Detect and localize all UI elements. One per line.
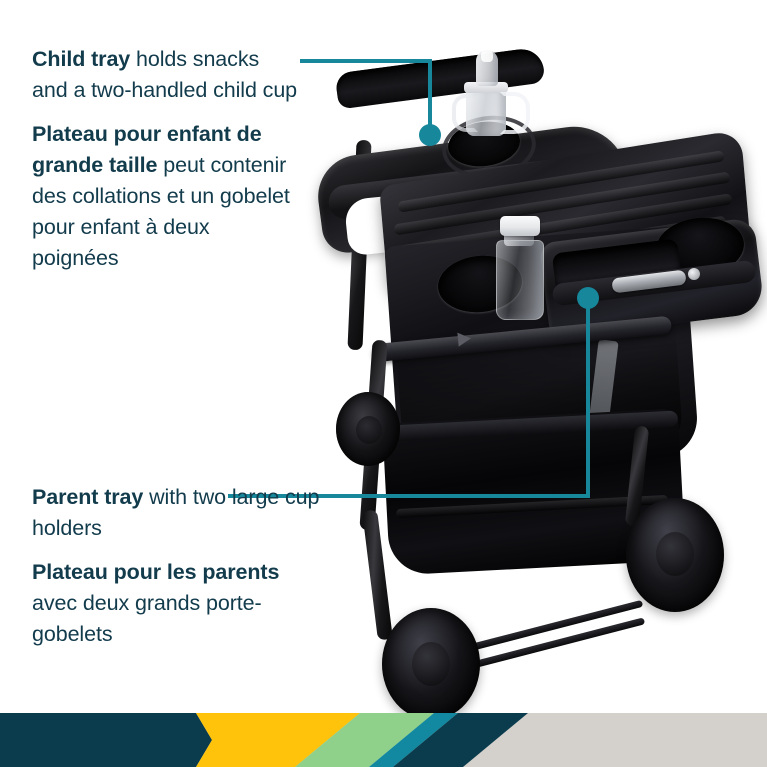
sippy-cup-handle-right xyxy=(500,92,530,134)
callout-parent-tray-french: Plateau pour les parents avec deux grand… xyxy=(32,557,322,650)
parent-tray-leader-line-vertical xyxy=(586,298,590,498)
water-bottle-body xyxy=(496,240,544,320)
callout-child-tray-english: Child tray holds snacks and a two-handle… xyxy=(32,44,300,106)
callout-parent-tray-french-bold: Plateau pour les parents xyxy=(32,560,279,584)
child-tray-leader-line-vertical xyxy=(428,59,432,133)
child-tray-leader-dot xyxy=(419,124,441,146)
rear-wheel-right-hub xyxy=(656,532,694,576)
fold-direction-arrow-icon xyxy=(457,331,471,346)
rear-wheel-left-hub xyxy=(412,642,450,686)
bottom-brand-chevron-bar xyxy=(0,713,767,767)
callout-parent-tray-english-bold: Parent tray xyxy=(32,485,143,509)
callout-parent-tray-english: Parent tray with two large cup holders xyxy=(32,482,322,544)
stroller-product-image xyxy=(300,40,767,710)
front-wheel-upper-hub xyxy=(356,416,382,444)
fold-latch-pin xyxy=(688,268,700,280)
product-feature-infographic: Child tray holds snacks and a two-handle… xyxy=(0,0,767,767)
callout-child-tray-french: Plateau pour enfant de grande taille peu… xyxy=(32,119,300,274)
stripe-navy-left xyxy=(0,713,212,767)
callout-child-tray: Child tray holds snacks and a two-handle… xyxy=(32,44,300,274)
callout-parent-tray-french-rest: avec deux grands porte-gobelets xyxy=(32,591,262,646)
child-tray-leader-line-horizontal xyxy=(300,59,432,63)
callout-child-tray-english-bold: Child tray xyxy=(32,47,130,71)
water-bottle-cap xyxy=(500,216,540,236)
chevron-stripes xyxy=(0,713,767,767)
callout-parent-tray: Parent tray with two large cup holders P… xyxy=(32,482,322,650)
sippy-cup-spout-tip xyxy=(481,48,493,62)
